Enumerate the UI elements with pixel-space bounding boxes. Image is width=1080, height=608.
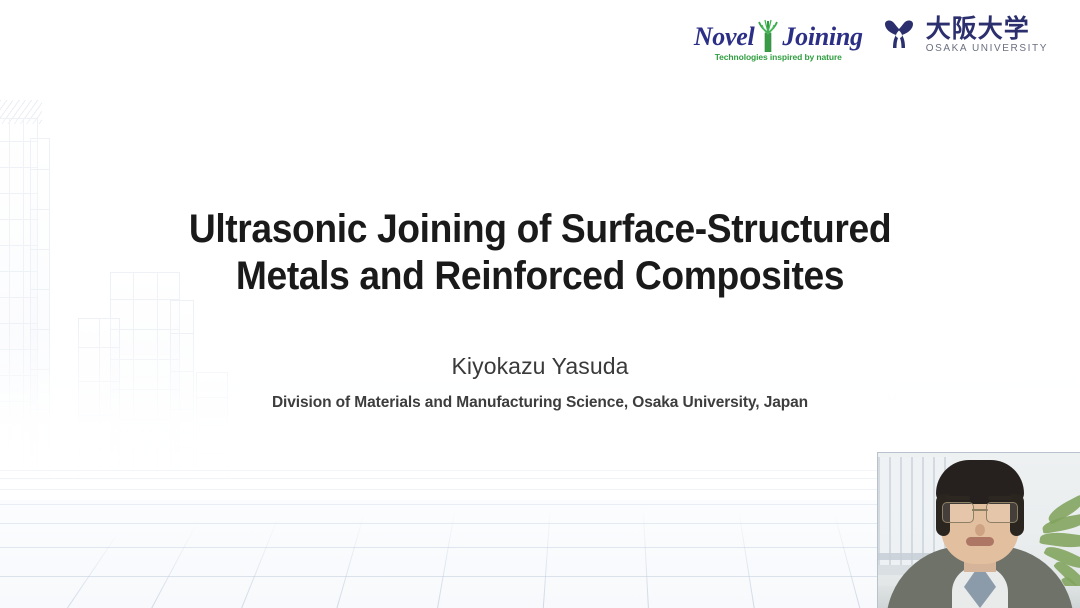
logo-bar: Novel Joining Technolo [694,14,1048,62]
osaka-university-kanji: 大阪大学 [926,16,1030,41]
slide-title-line-1: Ultrasonic Joining of Surface-Structured [38,206,1042,253]
osaka-university-texts: 大阪大学 OSAKA UNIVERSITY [926,16,1048,54]
title-block: Ultrasonic Joining of Surface-Structured… [0,206,1080,300]
background-roof-hatch [0,100,42,124]
novel-joining-logo: Novel Joining Technolo [694,14,863,62]
author-block: Kiyokazu Yasuda Division of Materials an… [0,353,1080,412]
presenter-video-thumbnail[interactable] [877,452,1080,608]
osaka-university-emblem-icon [881,18,917,52]
novel-joining-wordmark: Novel Joining [694,18,863,50]
presenter-eyebrow-right [988,496,1012,500]
background-building-2 [30,138,50,480]
eyeglass-lens-left [942,502,974,523]
novel-joining-word-joining: Joining [782,24,862,50]
presentation-slide: Novel Joining Technolo [0,0,1080,608]
novel-joining-word-novel: Novel [694,24,755,50]
author-name: Kiyokazu Yasuda [0,353,1080,380]
plant-sprout-icon [755,18,781,52]
presenter-eyebrow-left [946,496,970,500]
eyeglasses-icon [942,502,1018,522]
novel-joining-tagline: Technologies inspired by nature [715,52,842,62]
presenter-mouth [966,537,994,546]
presenter-nose [975,524,985,536]
osaka-university-english: OSAKA UNIVERSITY [926,44,1048,54]
author-affiliation: Division of Materials and Manufacturing … [0,394,1080,412]
osaka-university-logo: 大阪大学 OSAKA UNIVERSITY [881,14,1048,54]
presenter-figure [878,452,1080,608]
slide-title-line-2: Metals and Reinforced Composites [38,253,1042,300]
eyeglass-lens-right [986,502,1018,523]
